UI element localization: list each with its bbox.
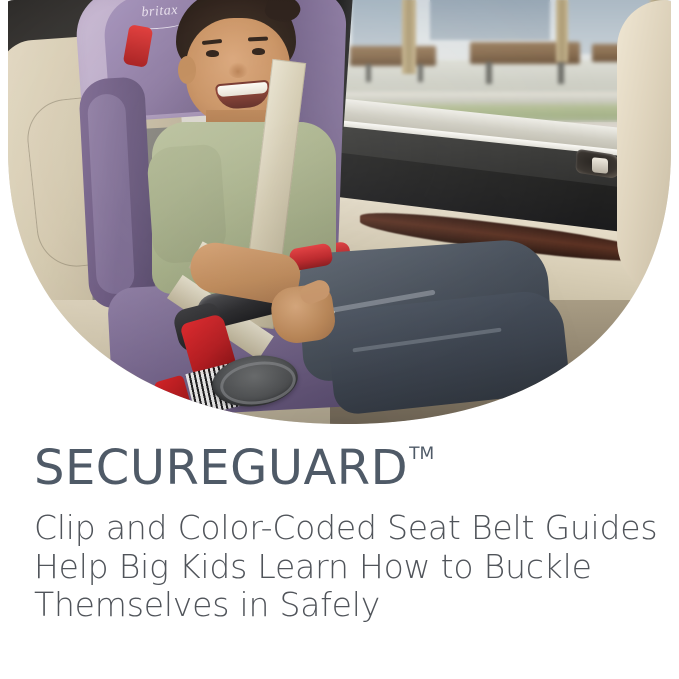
feature-description: Clip and Color-Coded Seat Belt Guides He… — [34, 509, 662, 625]
child-teeth — [217, 82, 268, 97]
bench-leg — [486, 62, 492, 84]
park-bench-left — [350, 46, 436, 66]
background-building-center — [430, 0, 550, 40]
hero-image-mask: britax — [0, 0, 679, 438]
feature-title: SECUREGUARD — [34, 444, 408, 493]
description-line-3: Themselves in Safely — [34, 586, 662, 625]
trademark-symbol: TM — [409, 446, 434, 463]
description-line-2: Help Big Kids Learn How to Buckle — [34, 548, 662, 587]
child-eye-left — [206, 50, 219, 57]
child-eye-right — [252, 48, 265, 55]
child-nose — [228, 62, 248, 78]
vehicle-seat-bolster — [617, 0, 679, 300]
hero-image-container: britax — [0, 0, 679, 438]
description-line-1: Clip and Color-Coded Seat Belt Guides — [34, 509, 662, 548]
plaza-post-left — [402, 0, 416, 74]
caption-block: SECUREGUARD TM Clip and Color-Coded Seat… — [34, 444, 662, 625]
product-feature-card: britax — [0, 0, 679, 679]
bench-leg — [366, 64, 371, 82]
feature-title-row: SECUREGUARD TM — [34, 444, 662, 493]
hero-photograph: britax — [0, 0, 679, 438]
bench-leg — [558, 62, 564, 84]
door-handle-pull — [592, 157, 608, 174]
plaza-post-center — [556, 0, 568, 62]
bench-leg — [418, 64, 423, 82]
child-ear — [178, 56, 196, 84]
